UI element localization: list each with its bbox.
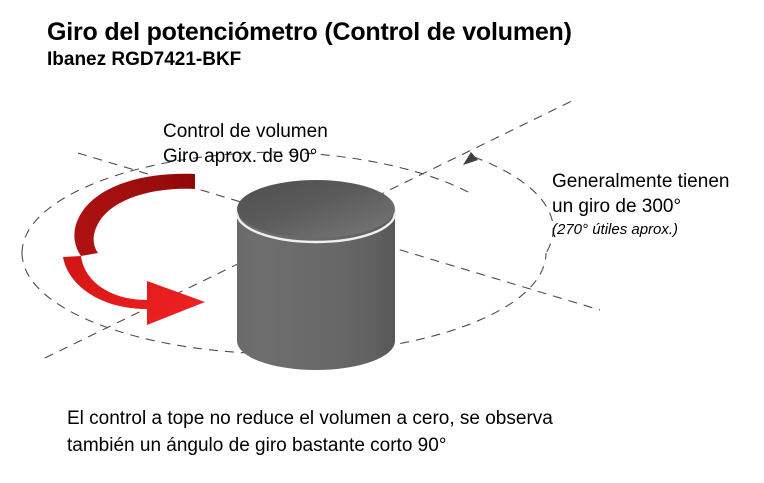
slide-canvas: Giro del potenciómetro (Control de volum… [0,0,764,483]
annotation-right-note: (270° útiles aprox.) [552,220,729,240]
rotation-path-arrowhead-icon [463,152,478,165]
annotation-right-line1: Generalmente tienen [552,170,729,195]
arrow-upper-ribbon [74,174,195,256]
annotation-left-line2: Giro aprox. de 90° [163,145,328,170]
annotation-left: Control de volumen Giro aprox. de 90° [163,120,328,169]
knob-top-face [237,180,395,238]
rotation-arrow-90-degrees [63,174,205,325]
caption-line2: también un ángulo de giro bastante corto… [67,433,553,460]
annotation-right: Generalmente tienen un giro de 300° (270… [552,170,729,240]
caption-block: El control a tope no reduce el volumen a… [67,406,553,460]
caption-line1: El control a tope no reduce el volumen a… [67,406,553,433]
annotation-right-line2: un giro de 300° [552,195,729,220]
potentiometer-knob[interactable] [237,180,395,370]
annotation-left-line1: Control de volumen [163,120,328,145]
rotation-path-right-arc [474,157,553,253]
